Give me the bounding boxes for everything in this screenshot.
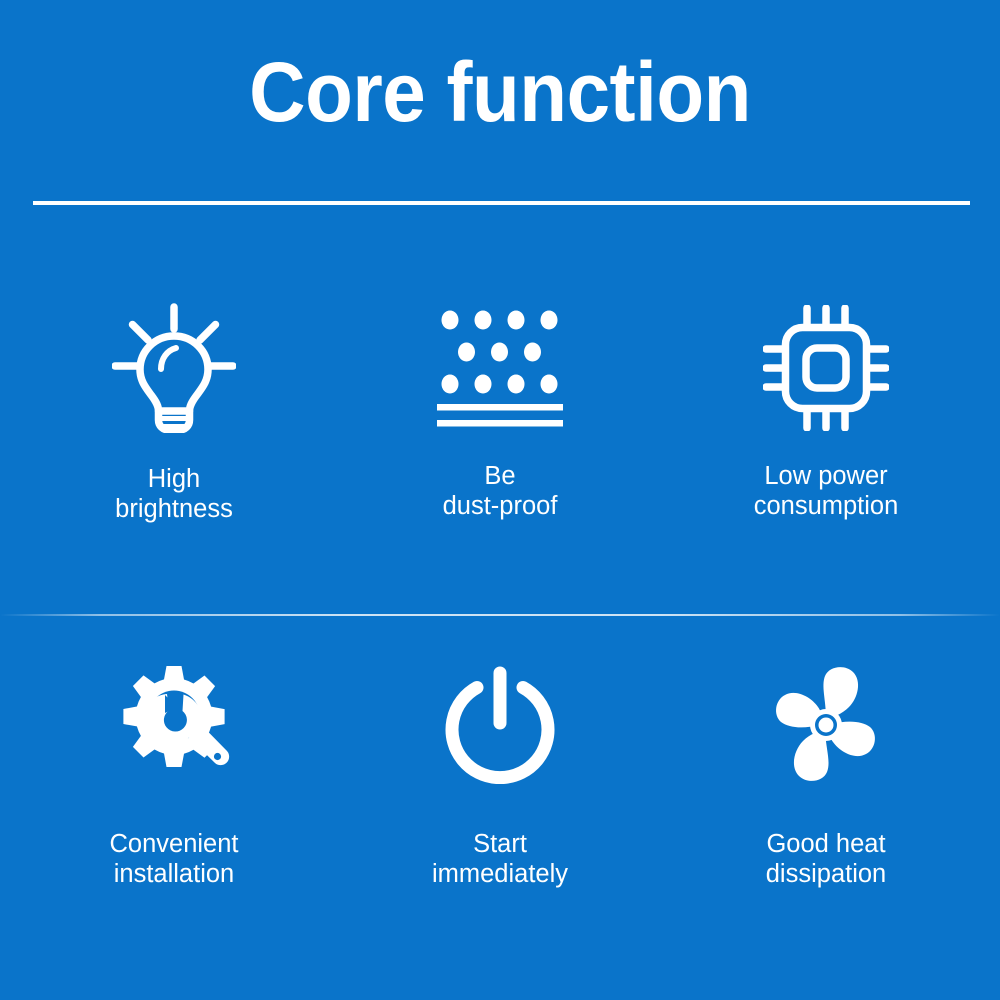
- title-underline-rule: [33, 201, 970, 205]
- lightbulb-icon: [112, 288, 236, 448]
- power-button-icon: [444, 645, 556, 805]
- fan-icon: [763, 645, 889, 805]
- feature-cell-good-heat-dissipation[interactable]: Good heat dissipation: [652, 605, 1000, 970]
- header: Core function: [0, 0, 1000, 215]
- feature-cell-dust-proof[interactable]: Be dust-proof: [348, 240, 652, 605]
- feature-cell-low-power[interactable]: Low power consumption: [652, 240, 1000, 605]
- feature-cell-start-immediately[interactable]: Start immediately: [348, 605, 652, 970]
- feature-cell-high-brightness[interactable]: High brightness: [0, 240, 348, 605]
- feature-cell-convenient-installation[interactable]: Convenient installation: [0, 605, 348, 970]
- feature-label: High brightness: [115, 464, 233, 524]
- feature-label: Good heat dissipation: [766, 829, 887, 889]
- feature-label: Be dust-proof: [443, 461, 558, 521]
- feature-row-bottom: Convenient installation Start immediatel…: [0, 605, 1000, 970]
- core-function-feature-panel: Core function: [0, 0, 1000, 1000]
- gear-wrench-icon: [113, 645, 235, 805]
- dust-particles-icon: [437, 288, 563, 448]
- feature-label: Start immediately: [432, 829, 568, 889]
- feature-label: Convenient installation: [109, 829, 238, 889]
- page-title: Core function: [35, 44, 965, 140]
- feature-label: Low power consumption: [754, 461, 899, 521]
- feature-row-top: High brightness: [0, 240, 1000, 605]
- feature-grid: High brightness: [0, 240, 1000, 970]
- cpu-chip-icon: [763, 288, 889, 448]
